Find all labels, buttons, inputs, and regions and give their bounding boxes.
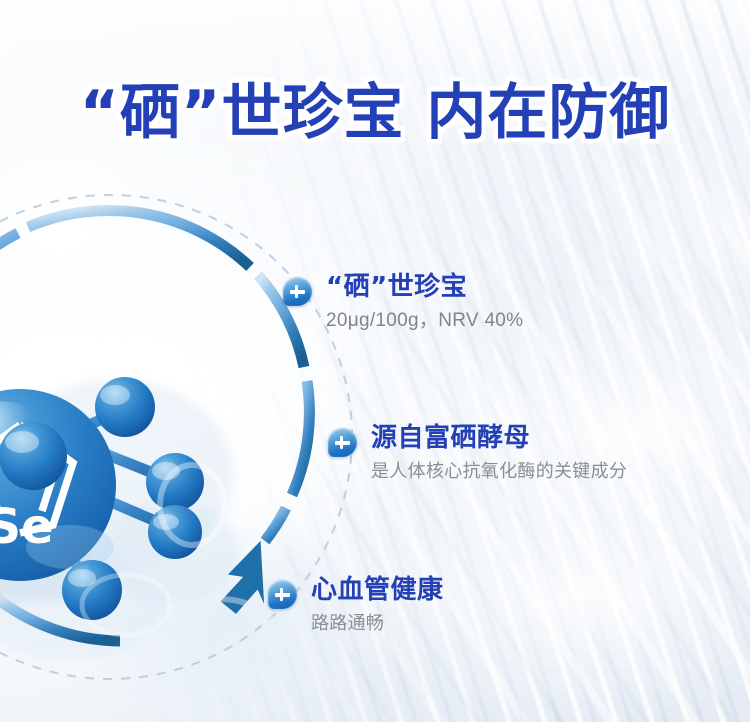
page-title: “硒”世珍宝 内在防御 <box>0 64 750 151</box>
feature-heading: 心血管健康 <box>311 576 444 606</box>
plus-pin-icon <box>328 428 357 457</box>
plus-pin-icon <box>268 580 297 609</box>
feature-item-3: 心血管健康 路路通畅 <box>268 576 444 634</box>
feature-item-2: 源自富硒酵母 是人体核心抗氧化酶的关键成分 <box>328 424 627 482</box>
promo-banner: Se <box>0 0 750 722</box>
feature-subtext: 是人体核心抗氧化酶的关键成分 <box>371 461 627 483</box>
feature-heading: 源自富硒酵母 <box>371 424 627 454</box>
feature-heading: “硒”世珍宝 <box>326 273 523 303</box>
core-atom-label: Se <box>0 499 54 555</box>
feature-subtext: 20μg/100g，NRV 40% <box>326 310 523 333</box>
feature-subtext: 路路通畅 <box>311 613 444 635</box>
feature-item-1: “硒”世珍宝 20μg/100g，NRV 40% <box>283 273 523 333</box>
plus-pin-icon <box>283 277 312 306</box>
